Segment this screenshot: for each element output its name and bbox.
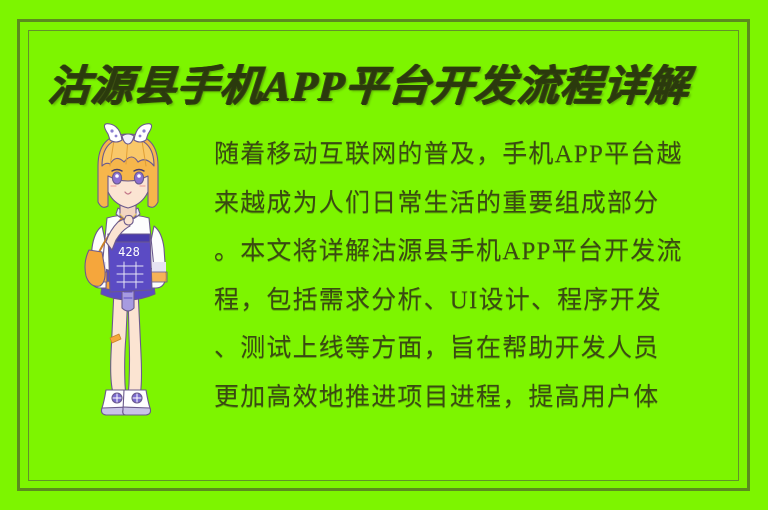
body-line: 更加高效地推进项目进程，提高用户体 xyxy=(214,374,738,423)
poster-canvas: 沽源县手机APP平台开发流程详解 随着移动互联网的普及，手机APP平台越 来越成… xyxy=(0,0,768,510)
orange-pouch xyxy=(85,250,105,286)
poster-title: 沽源县手机APP平台开发流程详解 xyxy=(46,58,670,116)
ribbon-right-ear xyxy=(134,124,152,142)
body-line: 。本文将详解沽源县手机APP平台开发流 xyxy=(214,228,738,277)
left-eye xyxy=(112,172,121,184)
poster-body-text: 随着移动互联网的普及，手机APP平台越 来越成为人们日常生活的重要组成部分 。本… xyxy=(214,131,738,422)
anime-girl-illustration: 428 xyxy=(62,122,196,422)
body-line: 随着移动互联网的普及，手机APP平台越 xyxy=(214,131,738,180)
body-line: 、测试上线等方面，旨在帮助开发人员 xyxy=(214,325,738,374)
body-line: 来越成为人们日常生活的重要组成部分 xyxy=(214,180,738,229)
hand xyxy=(124,215,133,225)
svg-text:428: 428 xyxy=(118,245,140,259)
body-line: 程，包括需求分析、UI设计、程序开发 xyxy=(214,277,738,326)
ribbon-left-ear xyxy=(104,124,122,142)
right-eye xyxy=(134,172,143,184)
